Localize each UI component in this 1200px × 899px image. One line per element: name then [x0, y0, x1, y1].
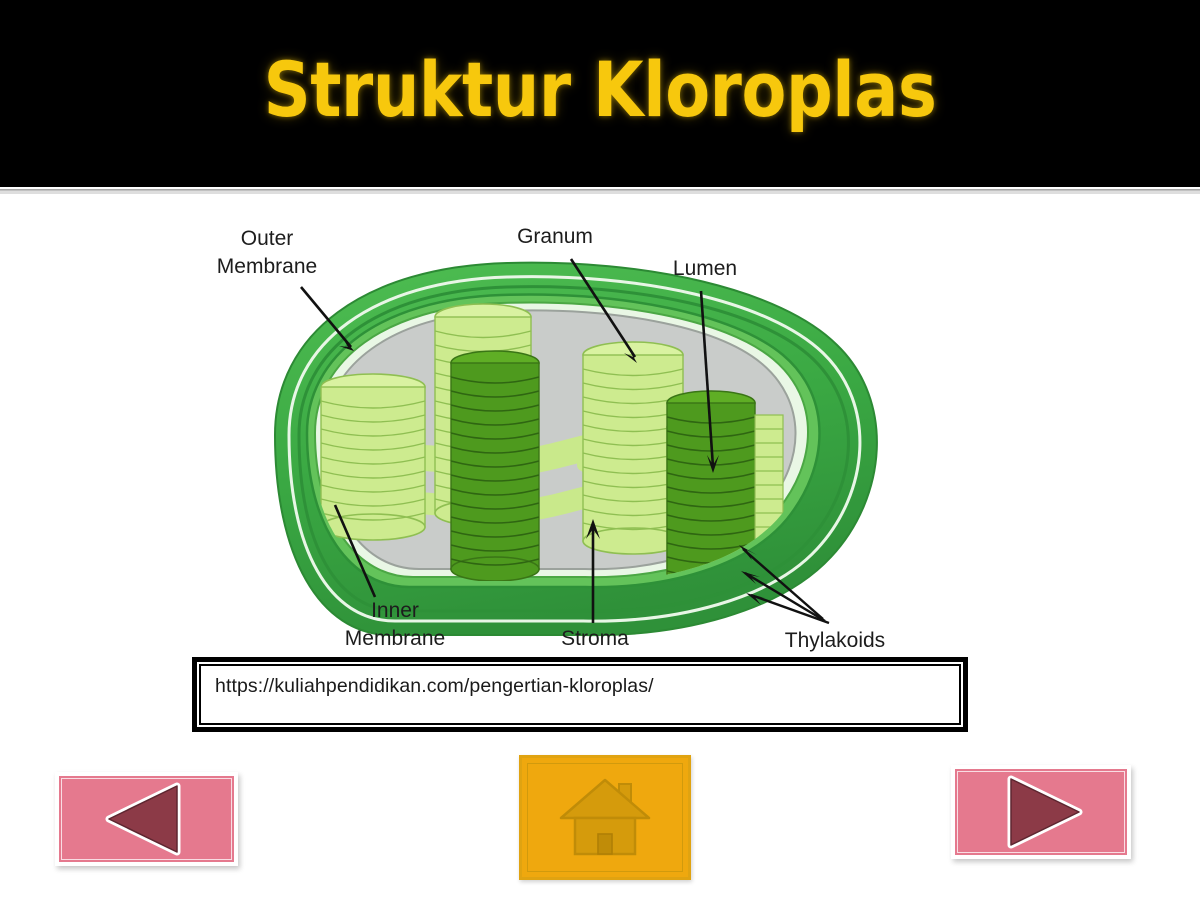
- label-outer-membrane-line2: Membrane: [217, 255, 317, 278]
- label-inner-membrane-line1: Inner: [371, 599, 419, 622]
- next-slide-button[interactable]: [951, 765, 1131, 859]
- home-button[interactable]: [519, 755, 691, 880]
- header-divider-secondary: [0, 192, 1200, 194]
- house-icon: [557, 774, 653, 862]
- label-inner-membrane-line2: Membrane: [345, 627, 445, 650]
- label-lumen: Lumen: [673, 257, 737, 280]
- chloroplast-diagram: Outer Membrane Granum Lumen Inner Membra…: [215, 205, 915, 665]
- label-thylakoids: Thylakoids: [785, 629, 885, 652]
- slide-canvas: Struktur Kloroplas: [0, 0, 1200, 899]
- label-outer-membrane-line1: Outer: [241, 227, 294, 250]
- label-granum: Granum: [517, 225, 593, 248]
- granum-stack-left: [321, 374, 425, 540]
- page-title: Struktur Kloroplas: [84, 52, 1116, 128]
- previous-slide-button[interactable]: [55, 772, 238, 866]
- granum-stack-center-dark: [451, 351, 539, 581]
- source-url-box[interactable]: https://kuliahpendidikan.com/pengertian-…: [192, 657, 968, 732]
- triangle-right-icon: [989, 773, 1093, 851]
- source-url-box-inner: https://kuliahpendidikan.com/pengertian-…: [199, 664, 961, 725]
- label-stroma: Stroma: [561, 627, 629, 650]
- source-url-text: https://kuliahpendidikan.com/pengertian-…: [215, 675, 654, 697]
- triangle-left-icon: [95, 780, 199, 858]
